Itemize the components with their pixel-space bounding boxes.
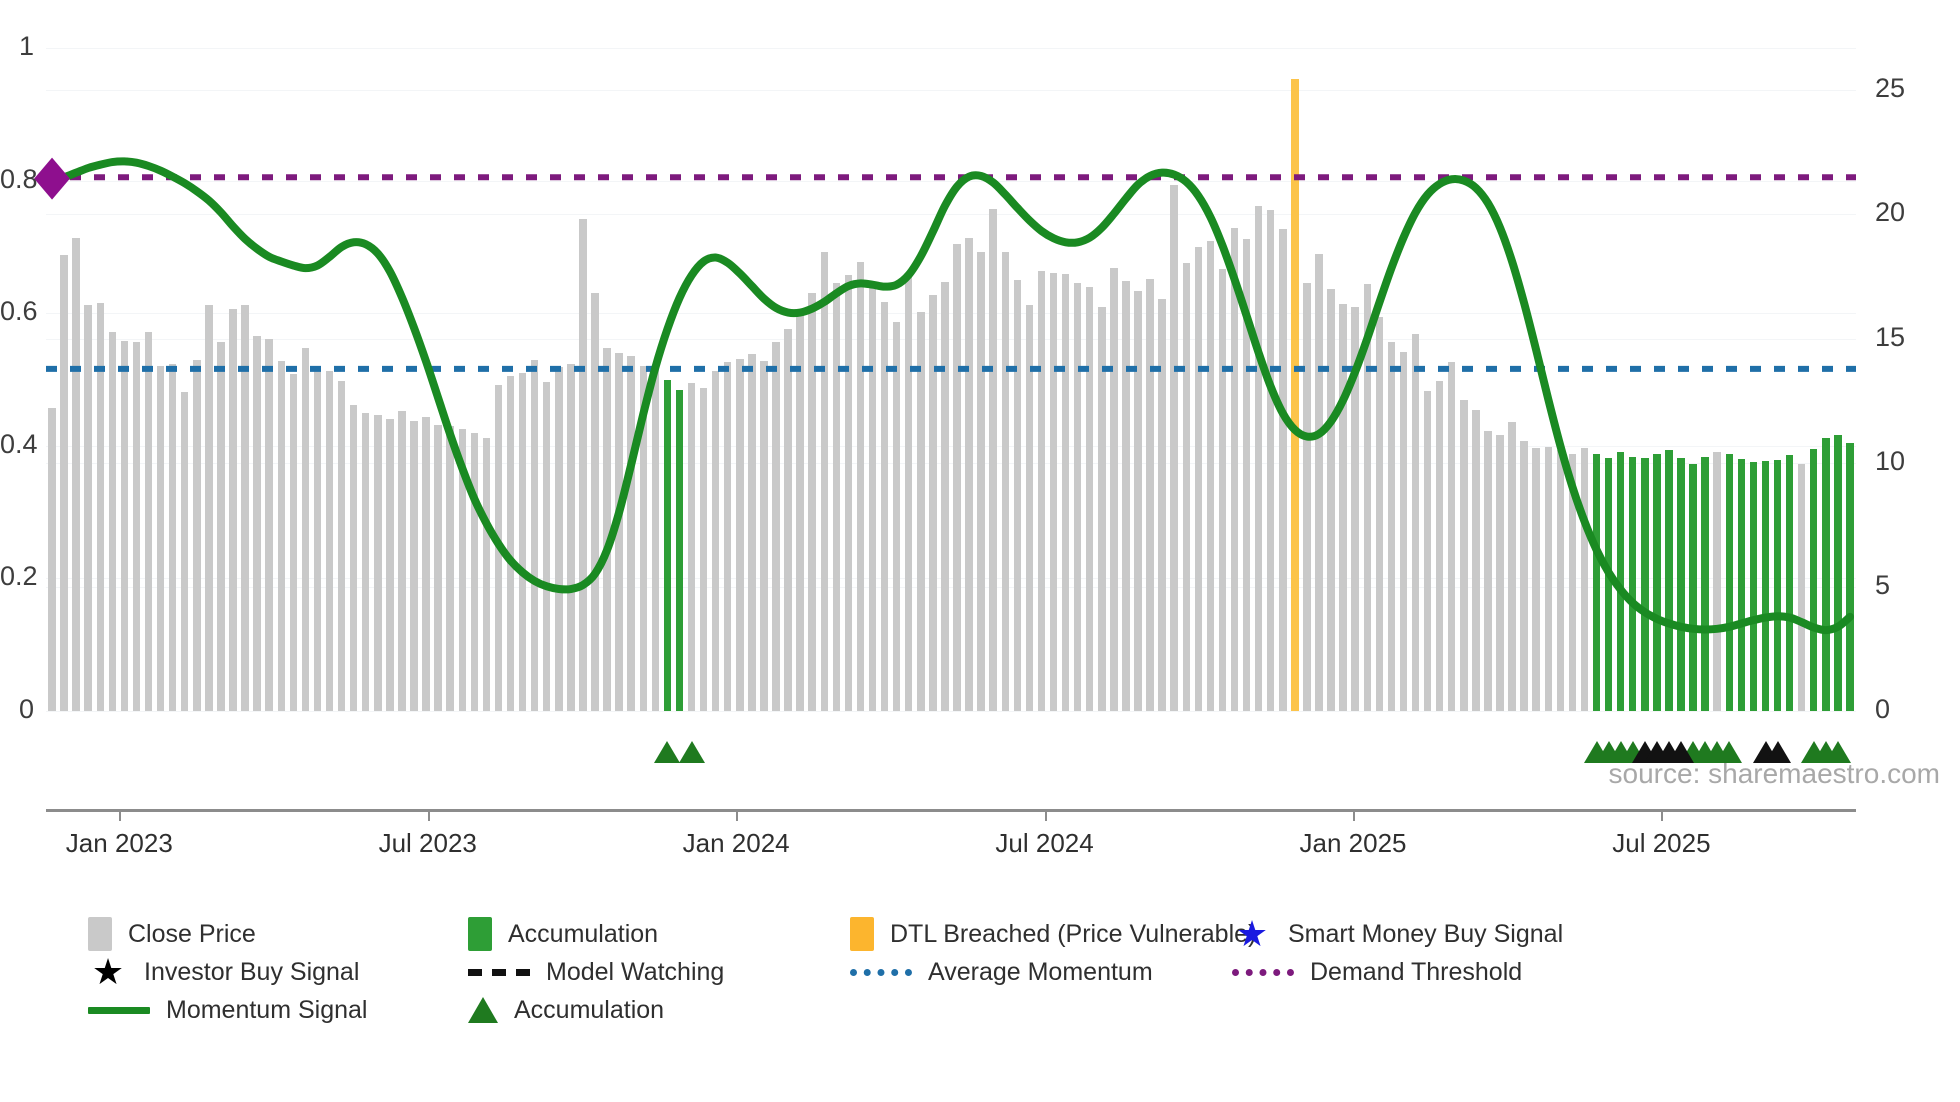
x-axis-line xyxy=(46,809,1856,812)
legend-item[interactable]: ★Smart Money Buy Signal xyxy=(1232,915,1563,953)
legend-item-label: Accumulation xyxy=(508,920,658,949)
plot-inner xyxy=(46,48,1856,711)
x-axis-tick-label: Jan 2024 xyxy=(683,828,790,859)
y-axis-left-tick-label: 1 xyxy=(0,31,34,62)
legend-item-label: Average Momentum xyxy=(928,958,1153,987)
legend-item-label: Smart Money Buy Signal xyxy=(1288,920,1563,949)
x-axis-tick-label: Jul 2025 xyxy=(1612,828,1710,859)
legend-item-label: DTL Breached (Price Vulnerable) xyxy=(890,920,1256,949)
x-axis-tick xyxy=(428,809,430,821)
y-axis-right-tick-label: 20 xyxy=(1875,197,1905,228)
x-axis-tick xyxy=(119,809,121,821)
x-axis-tick xyxy=(1353,809,1355,821)
orange-square-icon xyxy=(850,917,874,951)
legend-item-label: Investor Buy Signal xyxy=(144,958,359,987)
y-axis-left-tick-label: 0.8 xyxy=(0,164,34,195)
legend-item[interactable]: Momentum Signal xyxy=(88,991,367,1029)
y-axis-right-tick-label: 0 xyxy=(1875,694,1890,725)
green-line-icon xyxy=(88,1007,150,1014)
legend-item[interactable]: Accumulation xyxy=(468,991,664,1029)
legend-item[interactable]: Average Momentum xyxy=(850,953,1153,991)
y-axis-right-tick-label: 5 xyxy=(1875,570,1890,601)
signal-marker-band xyxy=(46,727,1856,763)
legend-item-label: Accumulation xyxy=(514,996,664,1025)
chart-root: 00.20.40.60.81 0510152025 Jan 2023Jul 20… xyxy=(0,0,1960,1102)
legend-item-label: Model Watching xyxy=(546,958,724,987)
legend-item[interactable]: Close Price xyxy=(88,915,256,953)
smart-money-buy-signal-marker xyxy=(34,158,70,200)
legend-item[interactable]: Accumulation xyxy=(468,915,658,953)
accumulation-triangle-marker xyxy=(679,741,705,763)
point-markers-layer xyxy=(46,48,1856,711)
gray-square-icon xyxy=(88,917,112,951)
legend-item[interactable]: DTL Breached (Price Vulnerable) xyxy=(850,915,1256,953)
y-axis-right-tick-label: 10 xyxy=(1875,446,1905,477)
legend-item[interactable]: Demand Threshold xyxy=(1232,953,1522,991)
legend-item-label: Close Price xyxy=(128,920,256,949)
blue-dotted-icon xyxy=(850,969,912,976)
purple-dotted-icon xyxy=(1232,969,1294,976)
blue-star-icon: ★ xyxy=(1232,916,1272,952)
x-axis-tick-label: Jan 2023 xyxy=(66,828,173,859)
y-axis-right-tick-label: 25 xyxy=(1875,73,1905,104)
green-triangle-icon xyxy=(468,997,498,1023)
source-watermark: source: sharemaestro.com xyxy=(1609,758,1940,790)
x-axis-tick-label: Jul 2023 xyxy=(379,828,477,859)
chart-legend: Close PriceAccumulationDTL Breached (Pri… xyxy=(0,915,1960,1095)
y-axis-left-tick-label: 0.4 xyxy=(0,429,34,460)
y-axis-right-tick-label: 15 xyxy=(1875,322,1905,353)
plot-area xyxy=(46,48,1856,711)
legend-item-label: Demand Threshold xyxy=(1310,958,1522,987)
gridline-right xyxy=(46,711,1856,712)
y-axis-left-tick-label: 0.2 xyxy=(0,561,34,592)
x-axis-tick-label: Jul 2024 xyxy=(995,828,1093,859)
x-axis-tick xyxy=(736,809,738,821)
legend-item[interactable]: Model Watching xyxy=(468,953,724,991)
accumulation-triangle-marker xyxy=(654,741,680,763)
x-axis-tick-label: Jan 2025 xyxy=(1300,828,1407,859)
x-axis-tick xyxy=(1045,809,1047,821)
y-axis-left-tick-label: 0.6 xyxy=(0,296,34,327)
legend-item[interactable]: ★Investor Buy Signal xyxy=(88,953,359,991)
legend-item-label: Momentum Signal xyxy=(166,996,367,1025)
y-axis-left-tick-label: 0 xyxy=(0,694,34,725)
green-square-icon xyxy=(468,917,492,951)
black-dash-icon xyxy=(468,969,530,976)
black-star-icon: ★ xyxy=(88,954,128,990)
x-axis-tick xyxy=(1661,809,1663,821)
